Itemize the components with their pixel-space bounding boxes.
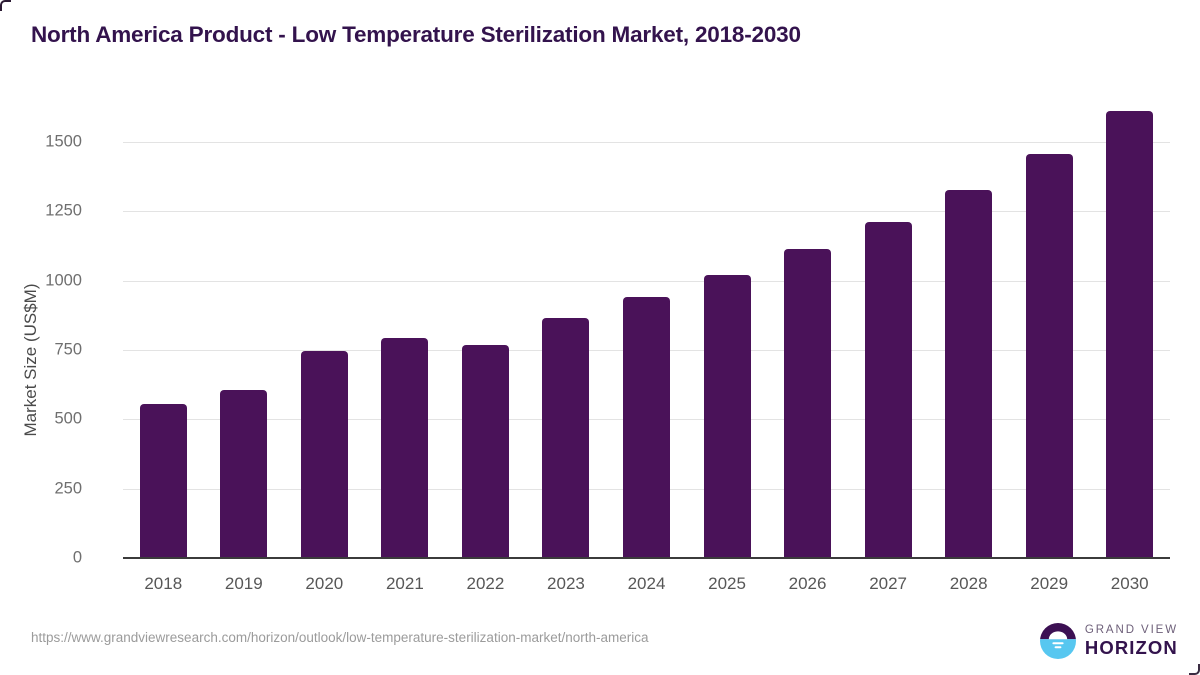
y-axis-tick-label: 0 (12, 549, 82, 568)
bar-2030[interactable] (1106, 111, 1153, 558)
bar-2022[interactable] (462, 345, 509, 558)
bar-2026[interactable] (784, 249, 831, 558)
x-axis-tick-label-2029: 2029 (1030, 574, 1068, 594)
x-axis-tick-label-2022: 2022 (467, 574, 505, 594)
x-axis-tick-label-2030: 2030 (1111, 574, 1149, 594)
horizon-logo-mark (1040, 623, 1076, 659)
x-axis-tick-label-2024: 2024 (628, 574, 666, 594)
bar-2029[interactable] (1026, 154, 1073, 558)
y-axis-tick-label: 1500 (12, 133, 82, 152)
x-axis-tick-label-2028: 2028 (950, 574, 988, 594)
x-axis-tick-label-2019: 2019 (225, 574, 263, 594)
x-axis-tick-label-2018: 2018 (144, 574, 182, 594)
bar-2023[interactable] (542, 318, 589, 558)
gridline (123, 281, 1170, 282)
container-corner-top-right (1189, 0, 1200, 11)
grand-view-horizon-logo[interactable]: GRAND VIEW HORIZON (1040, 618, 1178, 664)
x-axis-tick-label-2027: 2027 (869, 574, 907, 594)
bar-2025[interactable] (704, 275, 751, 558)
bar-2020[interactable] (301, 351, 348, 558)
container-corner-top-left (0, 0, 11, 11)
bar-2027[interactable] (865, 222, 912, 558)
bar-2021[interactable] (381, 338, 428, 558)
x-axis-line (123, 557, 1170, 559)
x-axis-tick-label-2025: 2025 (708, 574, 746, 594)
gridline (123, 211, 1170, 212)
logo-text: GRAND VIEW HORIZON (1085, 625, 1178, 658)
container-corner-bottom-left (0, 664, 11, 675)
x-axis-tick-label-2021: 2021 (386, 574, 424, 594)
x-axis-tick-label-2026: 2026 (789, 574, 827, 594)
chart-page: North America Product - Low Temperature … (0, 0, 1200, 675)
logo-line-horizon: HORIZON (1085, 639, 1178, 658)
plot-area: 0250500750100012501500 Market Size (US$M… (123, 142, 1170, 558)
bar-2019[interactable] (220, 390, 267, 558)
bar-2028[interactable] (945, 190, 992, 558)
bar-2018[interactable] (140, 404, 187, 558)
bar-2024[interactable] (623, 297, 670, 558)
logo-line-grand-view: GRAND VIEW (1085, 625, 1178, 637)
y-axis-title: Market Size (US$M) (21, 210, 41, 510)
x-axis-tick-label-2023: 2023 (547, 574, 585, 594)
container-corner-bottom-right (1189, 664, 1200, 675)
gridline (123, 142, 1170, 143)
chart-title: North America Product - Low Temperature … (31, 22, 801, 48)
x-axis-tick-label-2020: 2020 (305, 574, 343, 594)
source-url[interactable]: https://www.grandviewresearch.com/horizo… (31, 630, 649, 645)
